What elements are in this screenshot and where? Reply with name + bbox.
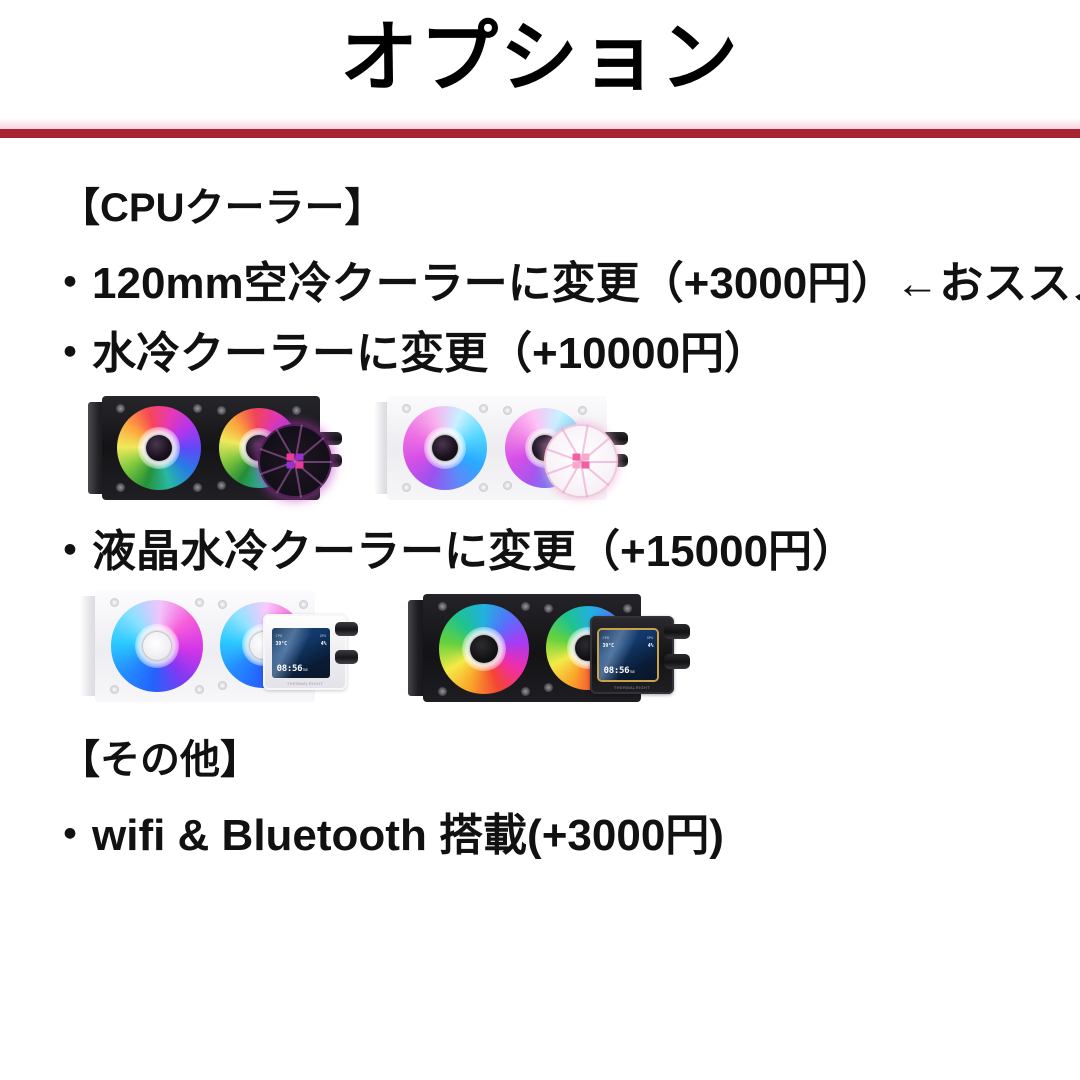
option-air-cooler: ・120mm空冷クーラーに変更（+3000円）←おススメ: [48, 262, 1080, 306]
section-heading-other: 【その他】: [60, 734, 1080, 780]
title-divider: [0, 118, 1080, 140]
lcd-cpu-label: CPU: [602, 637, 609, 640]
brand-label: THERMALRIGHT: [596, 685, 668, 690]
spacer: [0, 708, 1080, 734]
product-image-white-aio-cooler: [374, 392, 632, 504]
lcd-clock-sub: TUE: [629, 670, 635, 674]
page-title: オプション: [340, 18, 740, 96]
lcd-cpu-value: 39°C: [275, 643, 287, 648]
product-image-black-lcd-aio-cooler: CPU GPU 39°C 4% 08:56TUE THERMALRIGHT: [408, 592, 696, 708]
lcd-clock: 08:56TUE: [604, 666, 635, 676]
title-divider-bar: [0, 129, 1080, 138]
lcd-clock: 08:56TUE: [277, 664, 308, 674]
lcd-gpu-value: 4%: [321, 643, 327, 648]
section-heading-cpu-cooler: 【CPUクーラー】: [60, 182, 1080, 228]
option-wifi-bluetooth: ・wifi & Bluetooth 搭載(+3000円): [48, 814, 1080, 858]
slide-content: 【CPUクーラー】 ・120mm空冷クーラーに変更（+3000円）←おススメ ・…: [0, 140, 1080, 858]
lcd-gpu-label: GPU: [647, 637, 654, 640]
lcd-display: CPU GPU 39°C 4% 08:56TUE: [272, 628, 330, 678]
lcd-gpu-value: 4%: [648, 645, 654, 650]
option-lcd-cooler: ・液晶水冷クーラーに変更（+15000円）: [48, 530, 1080, 574]
product-image-black-aio-cooler: [88, 392, 346, 504]
lcd-gpu-label: GPU: [320, 635, 327, 638]
product-row-lcd-aio: CPU GPU 39°C 4% 08:56TUE THERMALRIGHT: [0, 588, 1080, 708]
spacer: [0, 228, 1080, 262]
thermalright-logo-icon: [573, 454, 590, 469]
pump-block-lcd: CPU GPU 39°C 4% 08:56TUE THERMALRIGHT: [590, 616, 674, 694]
lcd-display: CPU GPU 39°C 4% 08:56TUE: [599, 630, 657, 680]
brand-label: THERMALRIGHT: [269, 681, 341, 686]
product-row-aio: [0, 392, 1080, 504]
option-aio-cooler: ・水冷クーラーに変更（+10000円）: [48, 332, 1080, 376]
lcd-clock-sub: TUE: [302, 668, 308, 672]
lcd-cpu-label: CPU: [275, 635, 282, 638]
product-image-white-lcd-aio-cooler: CPU GPU 39°C 4% 08:56TUE THERMALRIGHT: [80, 588, 358, 708]
thermalright-logo-icon: [287, 454, 304, 469]
slide-header: オプション: [0, 0, 1080, 118]
lcd-cpu-value: 39°C: [602, 645, 614, 650]
spacer: [0, 780, 1080, 814]
